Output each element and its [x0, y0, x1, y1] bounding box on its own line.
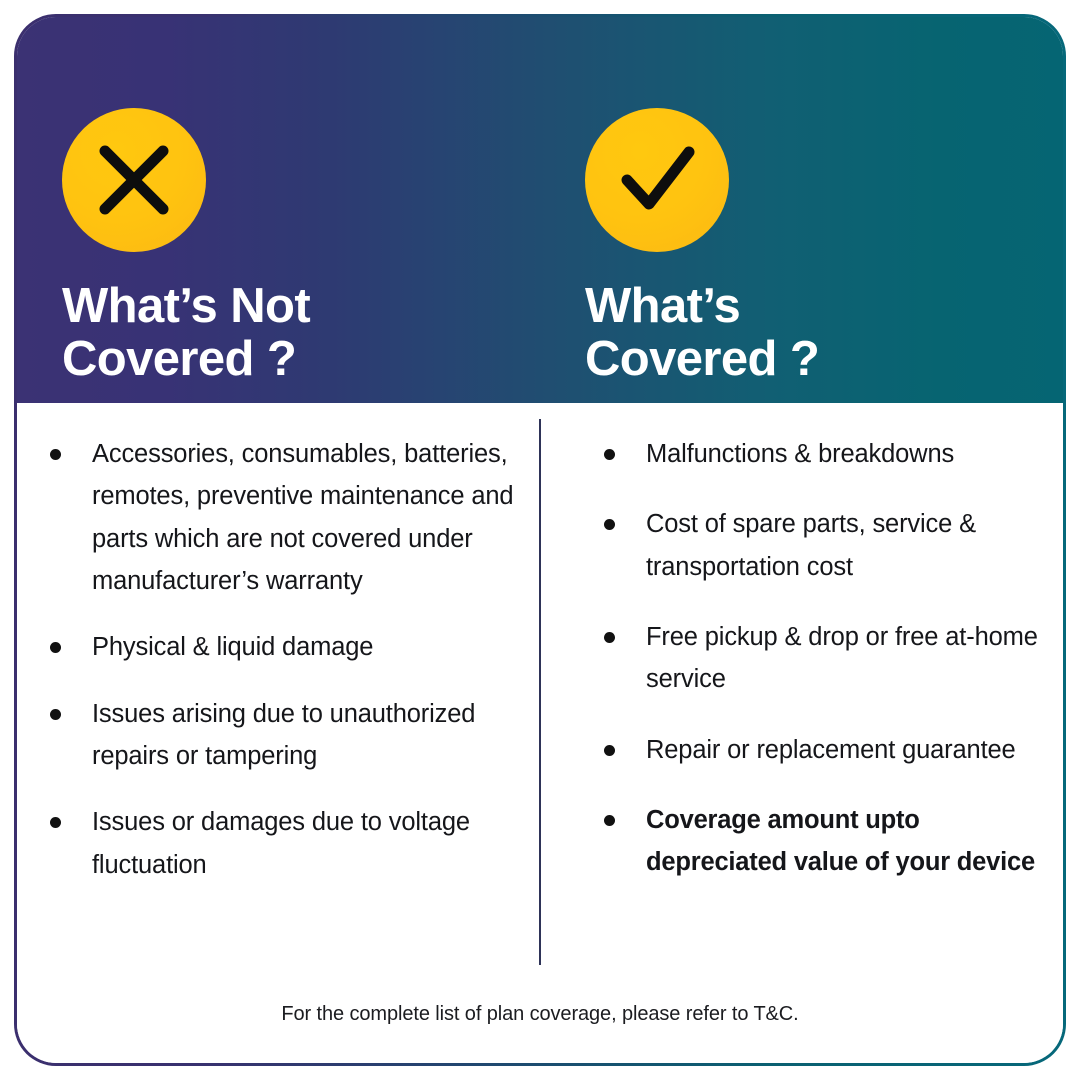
covered-list: Malfunctions & breakdownsCost of spare p…: [604, 433, 1039, 884]
card-body: Accessories, consumables, batteries, rem…: [17, 403, 1063, 1066]
not-covered-item-label: Physical & liquid damage: [92, 633, 373, 661]
covered-title: What’s Covered ?: [585, 280, 1063, 386]
coverage-comparison-card: What’s Not Covered ? What’s Covered ? Ac…: [14, 14, 1066, 1066]
header-column-not-covered: What’s Not Covered ?: [17, 17, 540, 403]
covered-column: Malfunctions & breakdownsCost of spare p…: [540, 403, 1063, 1066]
covered-item: Malfunctions & breakdowns: [604, 433, 1039, 475]
covered-item: Free pickup & drop or free at-home servi…: [604, 616, 1039, 701]
covered-item-label: Malfunctions & breakdowns: [646, 440, 954, 468]
covered-item-label: Repair or replacement guarantee: [646, 736, 1016, 764]
covered-item: Repair or replacement guarantee: [604, 729, 1039, 771]
not-covered-item: Accessories, consumables, batteries, rem…: [50, 433, 514, 602]
not-covered-item: Issues arising due to unauthorized repai…: [50, 693, 514, 778]
covered-item: Cost of spare parts, service & transport…: [604, 503, 1039, 588]
not-covered-item-label: Accessories, consumables, batteries, rem…: [92, 440, 513, 595]
not-covered-list: Accessories, consumables, batteries, rem…: [50, 433, 514, 886]
covered-item: Coverage amount upto depreciated value o…: [604, 799, 1039, 884]
not-covered-item-label: Issues or damages due to voltage fluctua…: [92, 808, 470, 878]
footer-note: For the complete list of plan coverage, …: [17, 1003, 1063, 1026]
header-column-covered: What’s Covered ?: [540, 17, 1063, 403]
not-covered-item: Issues or damages due to voltage fluctua…: [50, 801, 514, 886]
covered-item-label: Coverage amount upto depreciated value o…: [646, 806, 1035, 876]
not-covered-column: Accessories, consumables, batteries, rem…: [17, 403, 540, 1066]
not-covered-item: Physical & liquid damage: [50, 626, 514, 668]
not-covered-item-label: Issues arising due to unauthorized repai…: [92, 700, 475, 770]
cross-icon: [62, 108, 206, 252]
check-icon: [585, 108, 729, 252]
covered-item-label: Free pickup & drop or free at-home servi…: [646, 623, 1038, 693]
card-header: What’s Not Covered ? What’s Covered ?: [17, 17, 1063, 403]
not-covered-title: What’s Not Covered ?: [62, 280, 540, 386]
covered-item-label: Cost of spare parts, service & transport…: [646, 510, 976, 580]
